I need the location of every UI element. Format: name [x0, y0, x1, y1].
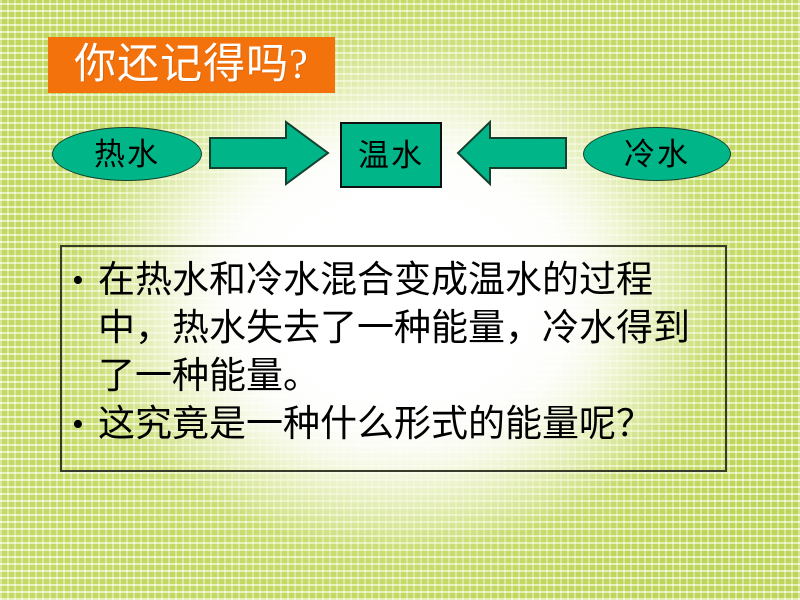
diagram-node-label: 热水	[94, 139, 160, 170]
bullet-point-icon: •	[72, 257, 98, 305]
bullet-item: • 这究竟是一种什么形式的能量呢？	[72, 401, 711, 449]
page-title: 你还记得吗?	[74, 44, 309, 86]
bullet-item: • 在热水和冷水混合变成温水的过程中，热水失去了一种能量，冷水得到了一种能量。	[72, 257, 711, 401]
bullet-text: 这究竟是一种什么形式的能量呢？	[98, 401, 711, 449]
arrow-right-icon	[208, 118, 330, 188]
title-banner: 你还记得吗?	[48, 37, 335, 93]
arrow-left-icon	[456, 118, 568, 188]
diagram-node-hot-water: 热水	[52, 127, 202, 181]
bullet-point-icon: •	[72, 401, 98, 449]
diagram-node-label: 温水	[358, 140, 424, 171]
diagram-node-warm-water: 温水	[340, 122, 442, 188]
content-text-box: • 在热水和冷水混合变成温水的过程中，热水失去了一种能量，冷水得到了一种能量。 …	[60, 245, 727, 472]
diagram-node-cold-water: 冷水	[583, 127, 731, 181]
bullet-text: 在热水和冷水混合变成温水的过程中，热水失去了一种能量，冷水得到了一种能量。	[98, 257, 711, 401]
diagram-node-label: 冷水	[624, 139, 690, 170]
slide-canvas: 你还记得吗? 热水 温水 冷水 • 在热水和冷水混合变成温水的过程中，热水失去了…	[0, 0, 800, 600]
